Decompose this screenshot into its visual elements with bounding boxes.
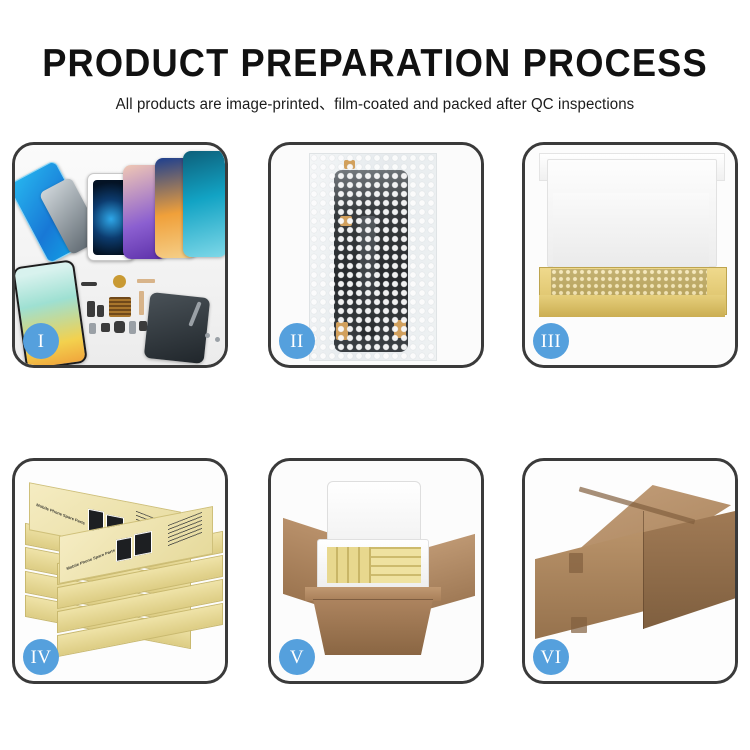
speaker-part-icon — [113, 275, 126, 288]
small-part-icon-6 — [129, 321, 136, 334]
carton-seal-icon-2 — [571, 617, 587, 633]
small-part-icon-1 — [87, 301, 95, 317]
carton-body-icon — [313, 599, 433, 655]
teal-phone-icon — [183, 151, 225, 257]
box-label-image-icon-4 — [134, 531, 152, 556]
yellow-boxes-row-icon — [327, 547, 371, 583]
page-subtitle: All products are image-printed、film-coat… — [11, 86, 739, 114]
box-tray-front-icon — [539, 295, 725, 317]
step-panel-3[interactable]: III — [522, 142, 738, 368]
step-panel-6[interactable]: VI — [522, 458, 738, 684]
foam-sheet-icon — [553, 193, 709, 269]
bubble-highlight-texture — [310, 154, 436, 360]
flex-cable-icon-2 — [139, 291, 144, 315]
step-panel-2[interactable]: II — [268, 142, 484, 368]
step-badge-5: V — [279, 639, 315, 675]
small-part-icon-5 — [114, 321, 125, 333]
step-badge-2: II — [279, 323, 315, 359]
box-label-lines-icon-2 — [168, 512, 202, 547]
screw-icon-1 — [205, 333, 210, 338]
page-header: PRODUCT PREPARATION PROCESS All products… — [0, 0, 750, 114]
flex-cable-icon-1 — [137, 279, 155, 283]
bar-part-icon — [81, 282, 97, 286]
small-part-icon-2 — [97, 305, 104, 317]
carton-seam-icon — [313, 599, 433, 600]
bubble-wrap-contents-icon — [551, 269, 707, 297]
box-label-text-1: Mobile Phone Spare Parts — [36, 502, 85, 526]
carton-seal-icon-1 — [569, 553, 583, 573]
step-badge-6: VI — [533, 639, 569, 675]
yellow-boxes-stack-icon — [371, 547, 421, 583]
bubble-bag-icon — [309, 153, 437, 361]
step-badge-3: III — [533, 323, 569, 359]
small-part-icon-3 — [89, 323, 96, 334]
step-panel-4[interactable]: Mobile Phone Spare Parts Mobile Phone Sp… — [12, 458, 228, 684]
small-part-icon-4 — [101, 323, 110, 332]
screw-icon-2 — [215, 337, 220, 342]
step-panel-1[interactable]: I — [12, 142, 228, 368]
step-panel-5[interactable]: V — [268, 458, 484, 684]
step-badge-4: IV — [23, 639, 59, 675]
carton-edge-icon — [643, 511, 644, 629]
mesh-part-icon — [109, 297, 131, 317]
box-label-image-icon-3 — [116, 537, 132, 562]
small-part-icon-7 — [139, 321, 147, 331]
foam-lid-icon — [327, 481, 421, 545]
step-badge-1: I — [23, 323, 59, 359]
page-title: PRODUCT PREPARATION PROCESS — [26, 0, 724, 86]
process-step-grid: I II III — [12, 142, 738, 675]
box-label-text-2: Mobile Phone Spare Parts — [66, 548, 115, 572]
